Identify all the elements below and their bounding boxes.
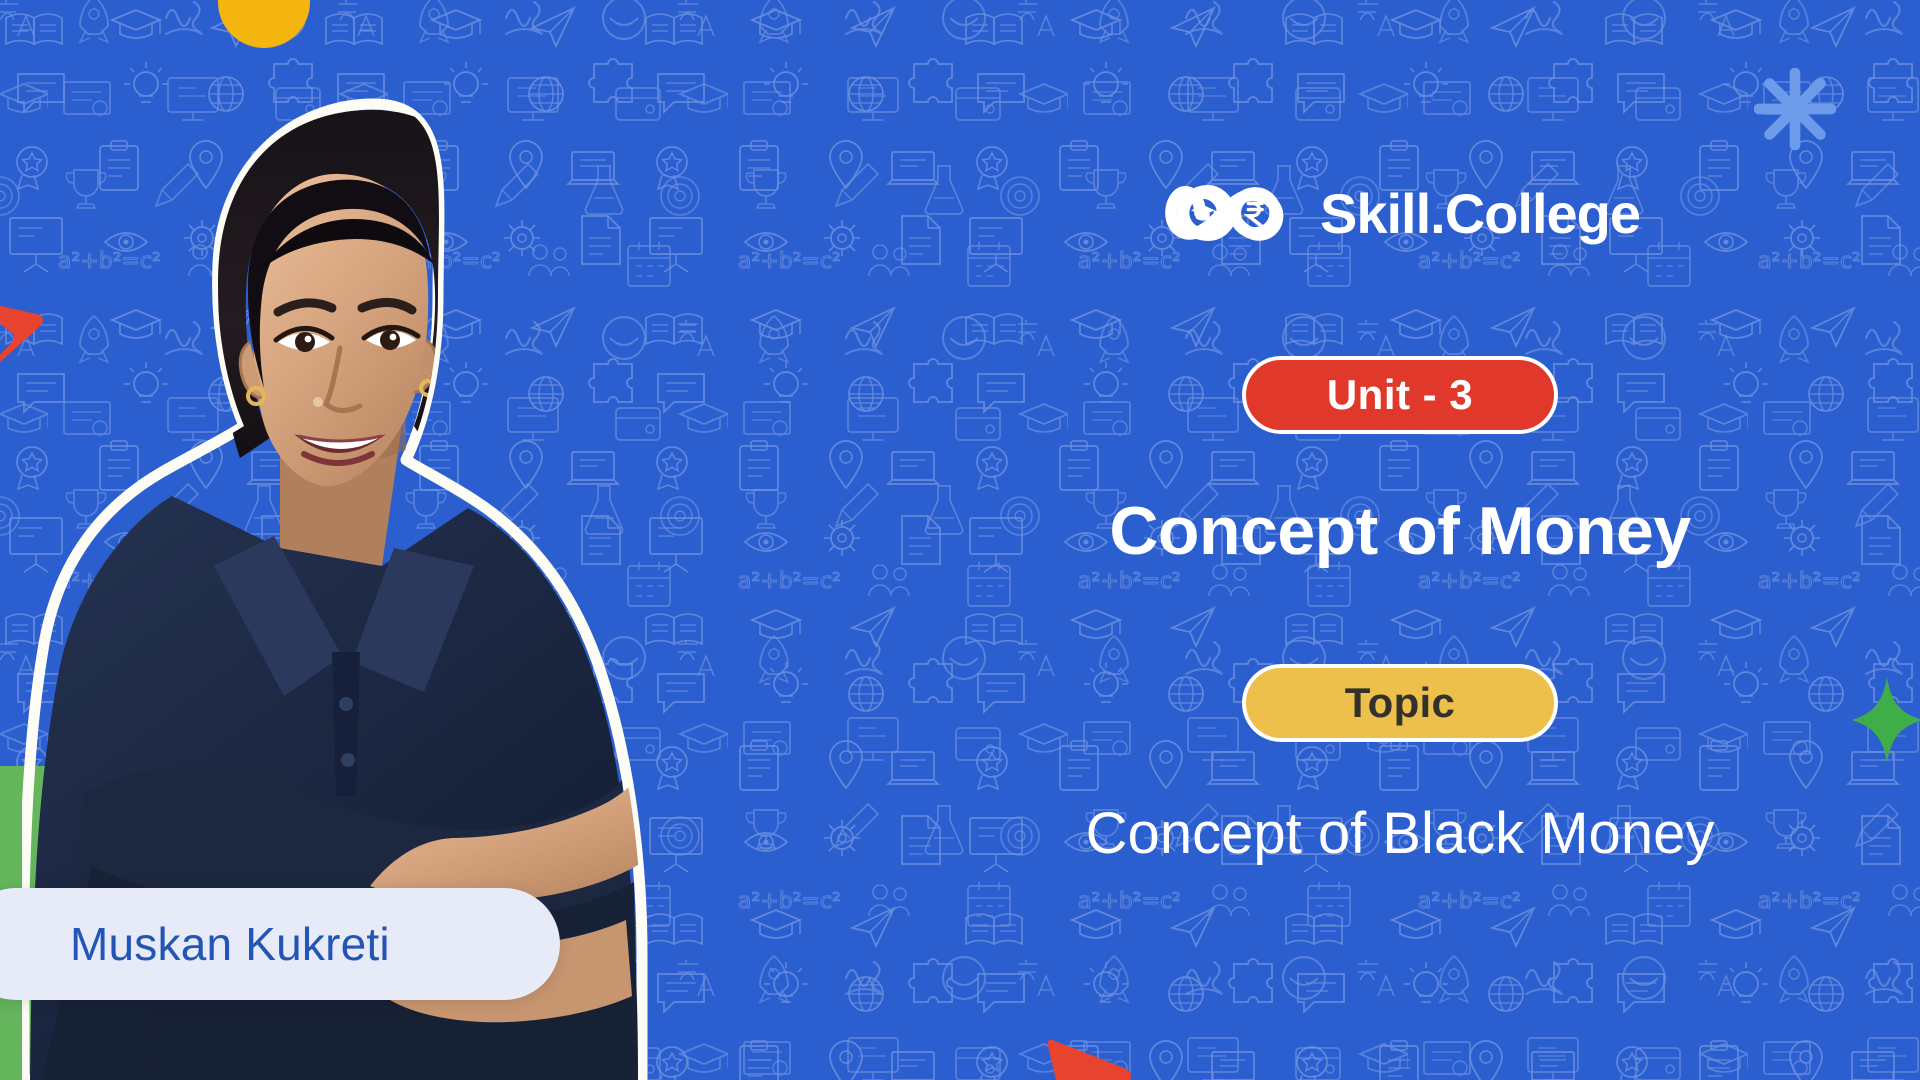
circle-yellow-decoration xyxy=(218,0,310,48)
topic-title: Concept of Black Money xyxy=(1086,800,1715,867)
brand-name-label: Skill.College xyxy=(1320,181,1640,246)
unit-badge-label: Unit - 3 xyxy=(1327,371,1473,419)
infinity-graduation-cap-rupee-icon xyxy=(1160,178,1298,248)
presenter-name-label: Muskan Kukreti xyxy=(70,917,390,971)
topic-badge-label: Topic xyxy=(1345,679,1455,727)
main-title: Concept of Money xyxy=(1109,492,1690,570)
slide-content-column: Skill.College Unit - 3 Concept of Money … xyxy=(880,0,1920,1080)
presenter-name-pill: Muskan Kukreti xyxy=(0,888,560,1000)
topic-badge: Topic xyxy=(1242,664,1558,742)
brand-logo: Skill.College xyxy=(1160,178,1640,248)
unit-badge: Unit - 3 xyxy=(1242,356,1558,434)
course-title-slide: a²+b²=c² xyxy=(0,0,1920,1080)
